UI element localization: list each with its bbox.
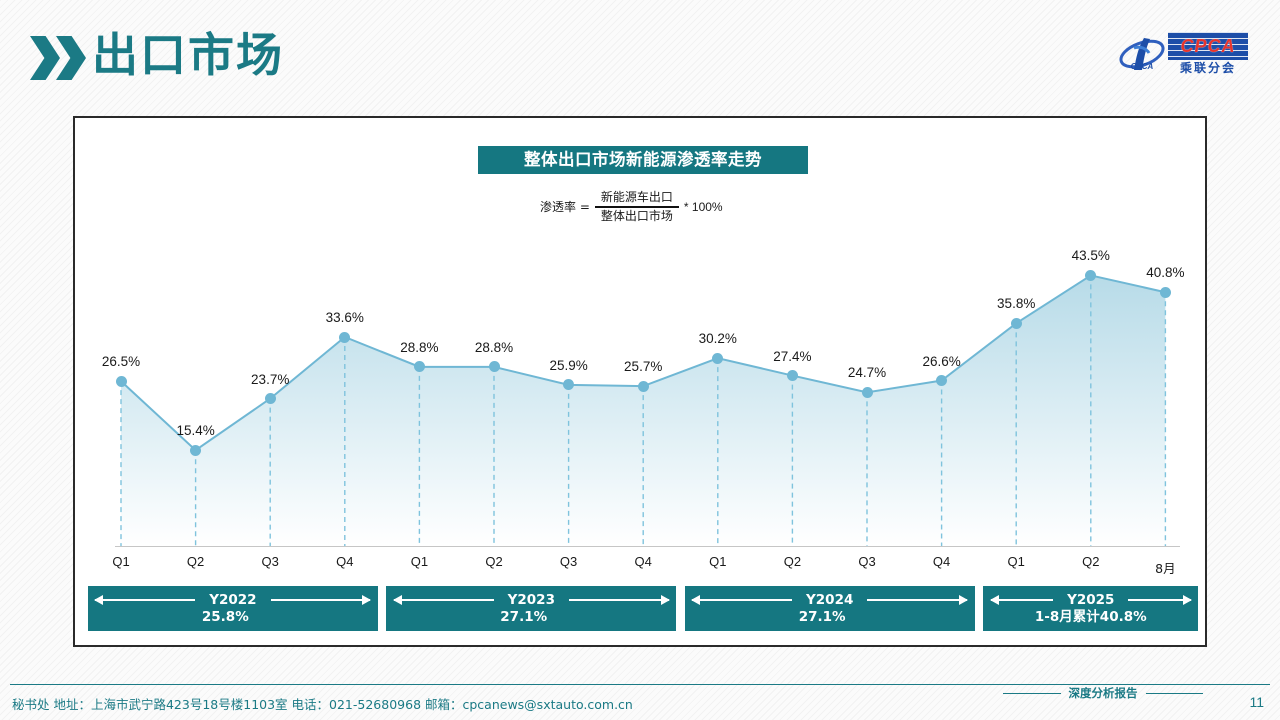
data-point-label: 30.2% [683,331,753,346]
data-point-marker [190,445,201,456]
footer-report-label: 深度分析报告 [1003,683,1203,703]
data-point-label: 15.4% [161,423,231,438]
x-axis-tick-label: Q1 [688,554,748,569]
arrow-left-icon [394,599,494,601]
year-banner-label: Y2023 [508,592,555,609]
x-axis-tick-label: Q2 [1061,554,1121,569]
data-point-label: 40.8% [1130,265,1200,280]
data-point-label: 26.6% [907,354,977,369]
data-point-marker [1160,287,1171,298]
data-point-label: 27.4% [757,349,827,364]
year-banner-value: 27.1% [386,609,676,626]
line-chart-plot: 26.5%15.4%23.7%33.6%28.8%28.8%25.9%25.7%… [75,118,1205,645]
data-point-label: 43.5% [1056,248,1126,263]
year-summary-banner: Y202427.1% [685,586,975,631]
footer-contact: 秘书处 地址：上海市武宁路423号18号楼1103室 电话：021-526809… [12,694,633,713]
slide-header: 出口市场 CPCA CPCA 乘联分会 [0,0,1280,108]
page-number: 11 [1249,694,1264,710]
year-summary-banner: Y202225.8% [88,586,378,631]
data-point-label: 26.5% [86,354,156,369]
x-axis-tick-label: Q3 [240,554,300,569]
x-axis-tick-label: Q4 [315,554,375,569]
data-point-marker [116,376,127,387]
year-banner-value: 1-8月累计40.8% [983,609,1198,626]
arrow-right-icon [569,599,669,601]
logo-cn-mark: CPCA [1120,62,1164,74]
arrow-right-icon [1128,599,1191,601]
chart-panel: 整体出口市场新能源渗透率走势 渗透率 = 新能源车出口 整体出口市场 * 100… [73,116,1207,647]
page-title: 出口市场 [92,24,284,86]
data-point-label: 24.7% [832,365,902,380]
arrow-right-icon [271,599,371,601]
slide: 出口市场 CPCA CPCA 乘联分会 整体出口市场新能源渗透率走势 渗透率 =… [0,0,1280,720]
data-point-label: 28.8% [459,340,529,355]
x-axis-tick-label: Q2 [166,554,226,569]
year-banner-label: Y2022 [209,592,256,609]
x-axis-tick-label: Q2 [464,554,524,569]
arrow-left-icon [692,599,792,601]
year-banner-value: 25.8% [88,609,378,626]
year-summary-banner: Y20251-8月累计40.8% [983,586,1198,631]
data-point-marker [862,387,873,398]
year-banner-label: Y2024 [806,592,853,609]
double-chevron-right-icon [30,36,92,80]
data-point-marker [712,353,723,364]
data-point-label: 28.8% [384,340,454,355]
data-point-marker [1011,318,1022,329]
arrow-right-icon [867,599,967,601]
x-axis-tick-label: Q1 [91,554,151,569]
data-point-marker [339,332,350,343]
x-axis-line [115,546,1180,547]
year-banner-label: Y2025 [1067,592,1114,609]
logo-brand: CPCA [1168,32,1248,60]
data-point-marker [787,370,798,381]
x-axis-tick-label: 8月 [1135,558,1195,577]
x-axis-tick-label: Q3 [837,554,897,569]
data-point-label: 23.7% [235,372,305,387]
data-point-marker [638,381,649,392]
x-axis-tick-label: Q1 [389,554,449,569]
arrow-left-icon [991,599,1054,601]
x-axis-tick-label: Q4 [912,554,972,569]
data-point-marker [489,361,500,372]
arrow-left-icon [95,599,195,601]
logo-subtitle: 乘联分会 [1168,60,1248,76]
x-axis-tick-label: Q1 [986,554,1046,569]
x-axis-tick-label: Q3 [539,554,599,569]
x-axis-tick-label: Q4 [613,554,673,569]
data-point-label: 35.8% [981,296,1051,311]
data-point-label: 33.6% [310,310,380,325]
year-banner-value: 27.1% [685,609,975,626]
x-axis-tick-label: Q2 [762,554,822,569]
footer-report-text: 深度分析报告 [1069,685,1138,701]
data-point-label: 25.7% [608,359,678,374]
data-point-marker [265,393,276,404]
year-summary-banner: Y202327.1% [386,586,676,631]
cpca-logo: CPCA CPCA 乘联分会 [1118,30,1246,80]
data-point-label: 25.9% [534,358,604,373]
